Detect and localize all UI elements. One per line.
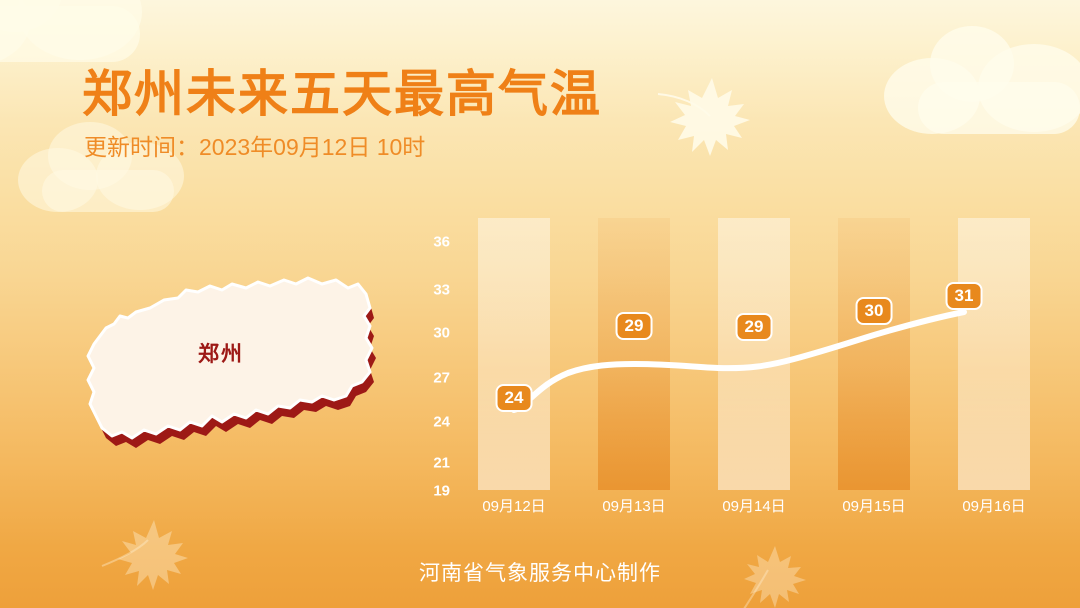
data-label-badge: 31 [946,282,983,310]
x-axis-tick: 09月12日 [454,495,574,516]
zhengzhou-map: 郑州 [70,250,410,500]
data-label-badge: 29 [736,313,773,341]
cloud-icon-top-right [884,22,1080,162]
data-label-badge: 24 [496,384,533,412]
map-city-label: 郑州 [198,338,244,368]
x-axis-tick: 09月13日 [574,495,694,516]
weather-forecast-poster: 郑州未来五天最高气温 更新时间：2023年09月12日 10时 郑州 36 33… [0,0,1080,608]
x-axis-tick: 09月15日 [814,495,934,516]
x-axis-tick: 09月16日 [934,495,1054,516]
maple-leaf-icon-top [640,60,780,170]
data-label-badge: 30 [856,297,893,325]
temperature-trend-line [418,215,1058,515]
update-time-label: 更新时间：2023年09月12日 10时 [84,128,425,162]
page-title: 郑州未来五天最高气温 [82,54,602,126]
x-axis-tick: 09月14日 [694,495,814,516]
footer-credit: 河南省气象服务中心制作 [0,557,1080,587]
temperature-chart: 36 33 30 27 24 21 19 24 29 29 30 31 09月1… [418,215,1058,515]
data-label-badge: 29 [616,312,653,340]
